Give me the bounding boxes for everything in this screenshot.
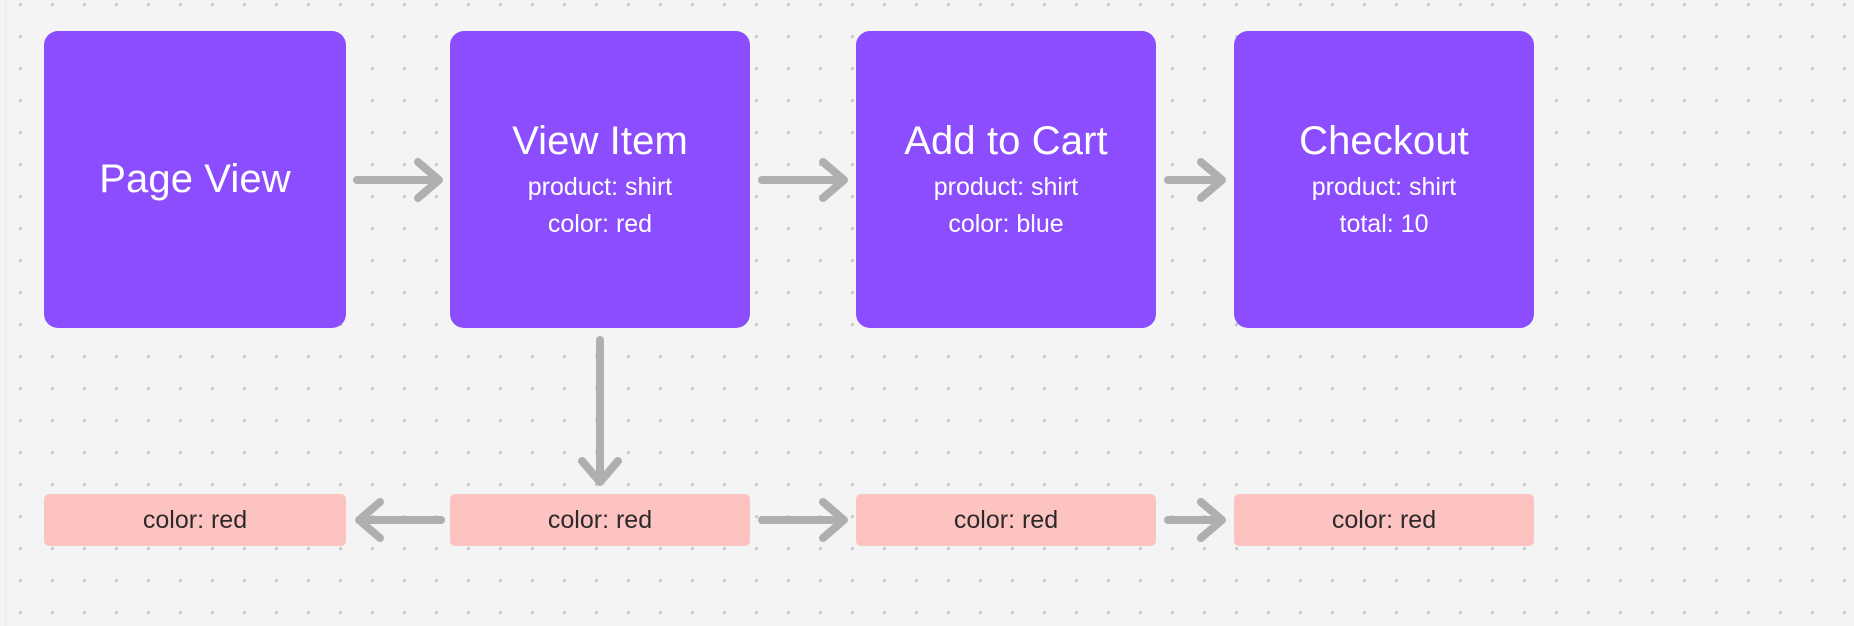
event-node-add-to-cart[interactable]: Add to Cart product: shirt color: blue [856,31,1156,328]
property-label: color: red [954,508,1058,533]
event-title: Add to Cart [904,118,1107,165]
property-node-1[interactable]: color: red [44,494,346,546]
event-property: color: blue [948,208,1063,241]
arrow-view-item-to-property-2 [576,336,624,488]
event-node-page-view[interactable]: Page View [44,31,346,328]
event-title: Page View [99,156,290,203]
property-node-3[interactable]: color: red [856,494,1156,546]
event-property: product: shirt [528,171,673,204]
event-property: product: shirt [1312,171,1457,204]
event-property: color: red [548,208,652,241]
event-property: product: shirt [934,171,1079,204]
arrow-property-2-to-property-3 [758,496,850,544]
arrow-view-item-to-add-to-cart [758,156,850,204]
property-label: color: red [548,508,652,533]
diagram-canvas[interactable]: Page View View Item product: shirt color… [0,0,1854,626]
property-label: color: red [1332,508,1436,533]
arrow-property-3-to-property-4 [1164,496,1228,544]
event-title: Checkout [1299,118,1469,165]
arrow-property-2-to-property-1 [353,496,445,544]
event-properties: product: shirt color: red [528,171,673,241]
arrow-page-view-to-view-item [353,156,445,204]
arrow-add-to-cart-to-checkout [1164,156,1228,204]
property-node-2[interactable]: color: red [450,494,750,546]
event-properties: product: shirt total: 10 [1312,171,1457,241]
event-property: total: 10 [1340,208,1429,241]
event-node-view-item[interactable]: View Item product: shirt color: red [450,31,750,328]
event-node-checkout[interactable]: Checkout product: shirt total: 10 [1234,31,1534,328]
event-properties: product: shirt color: blue [934,171,1079,241]
property-label: color: red [143,508,247,533]
event-title: View Item [512,118,688,165]
property-node-4[interactable]: color: red [1234,494,1534,546]
